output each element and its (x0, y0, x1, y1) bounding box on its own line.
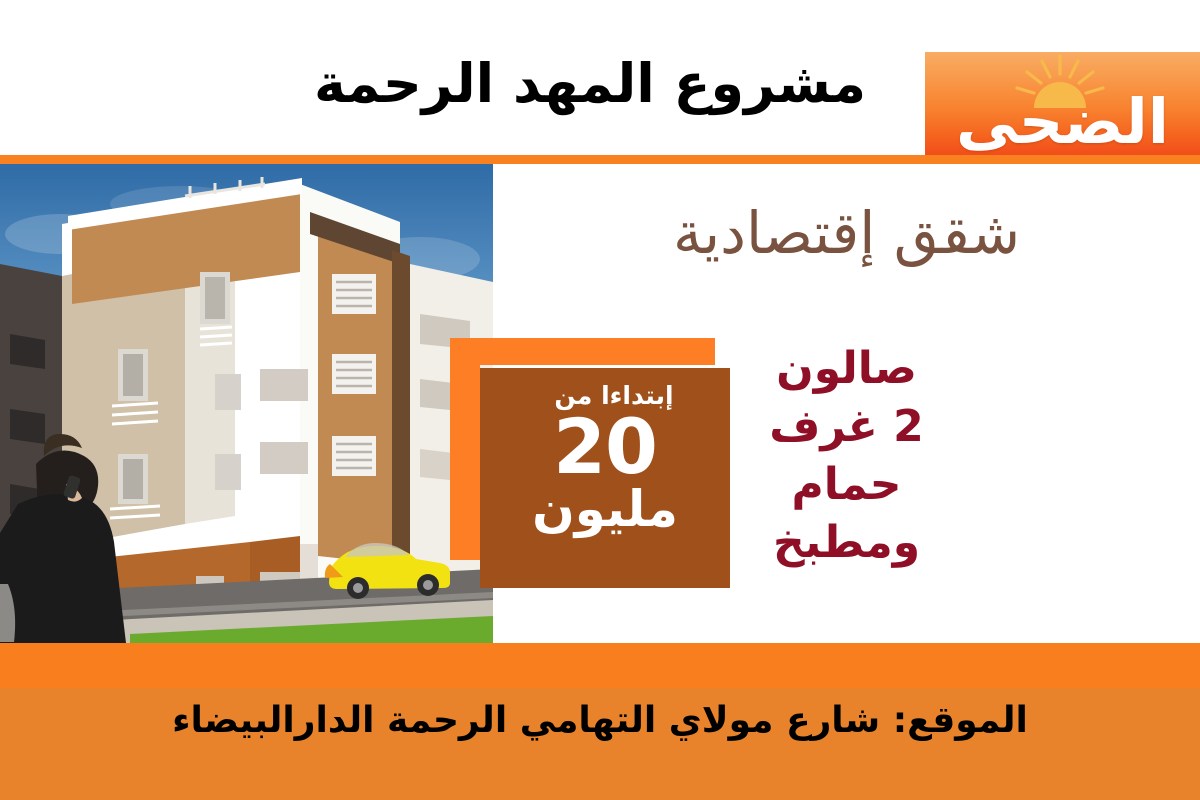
location-text: الموقع: شارع مولاي التهامي الرحمة الدارا… (0, 700, 1200, 741)
page-title: مشروع المهد الرحمة (280, 52, 900, 115)
footer-location-bar: الموقع: شارع مولاي التهامي الرحمة الدارا… (0, 688, 1200, 800)
price-badge-backdrop-side (450, 338, 480, 560)
footer-accent-bar (0, 643, 1200, 688)
brand-logo: الضحى (925, 52, 1200, 155)
features-list: صالون 2 غرف حمام ومطبخ (493, 340, 1200, 572)
list-item: ومطبخ (493, 514, 1200, 572)
header-divider (0, 155, 1200, 164)
building-photo (0, 164, 493, 643)
header: مشروع المهد الرحمة الضحى (0, 0, 1200, 155)
features-panel: شقق إقتصادية صالون 2 غرف حمام ومطبخ (493, 164, 1200, 643)
features-heading: شقق إقتصادية (493, 202, 1200, 266)
list-item: 2 غرف (493, 398, 1200, 456)
list-item: صالون (493, 340, 1200, 398)
brand-name: الضحى (925, 91, 1200, 153)
list-item: حمام (493, 456, 1200, 514)
advertisement-poster: مشروع المهد الرحمة الضحى (0, 0, 1200, 800)
